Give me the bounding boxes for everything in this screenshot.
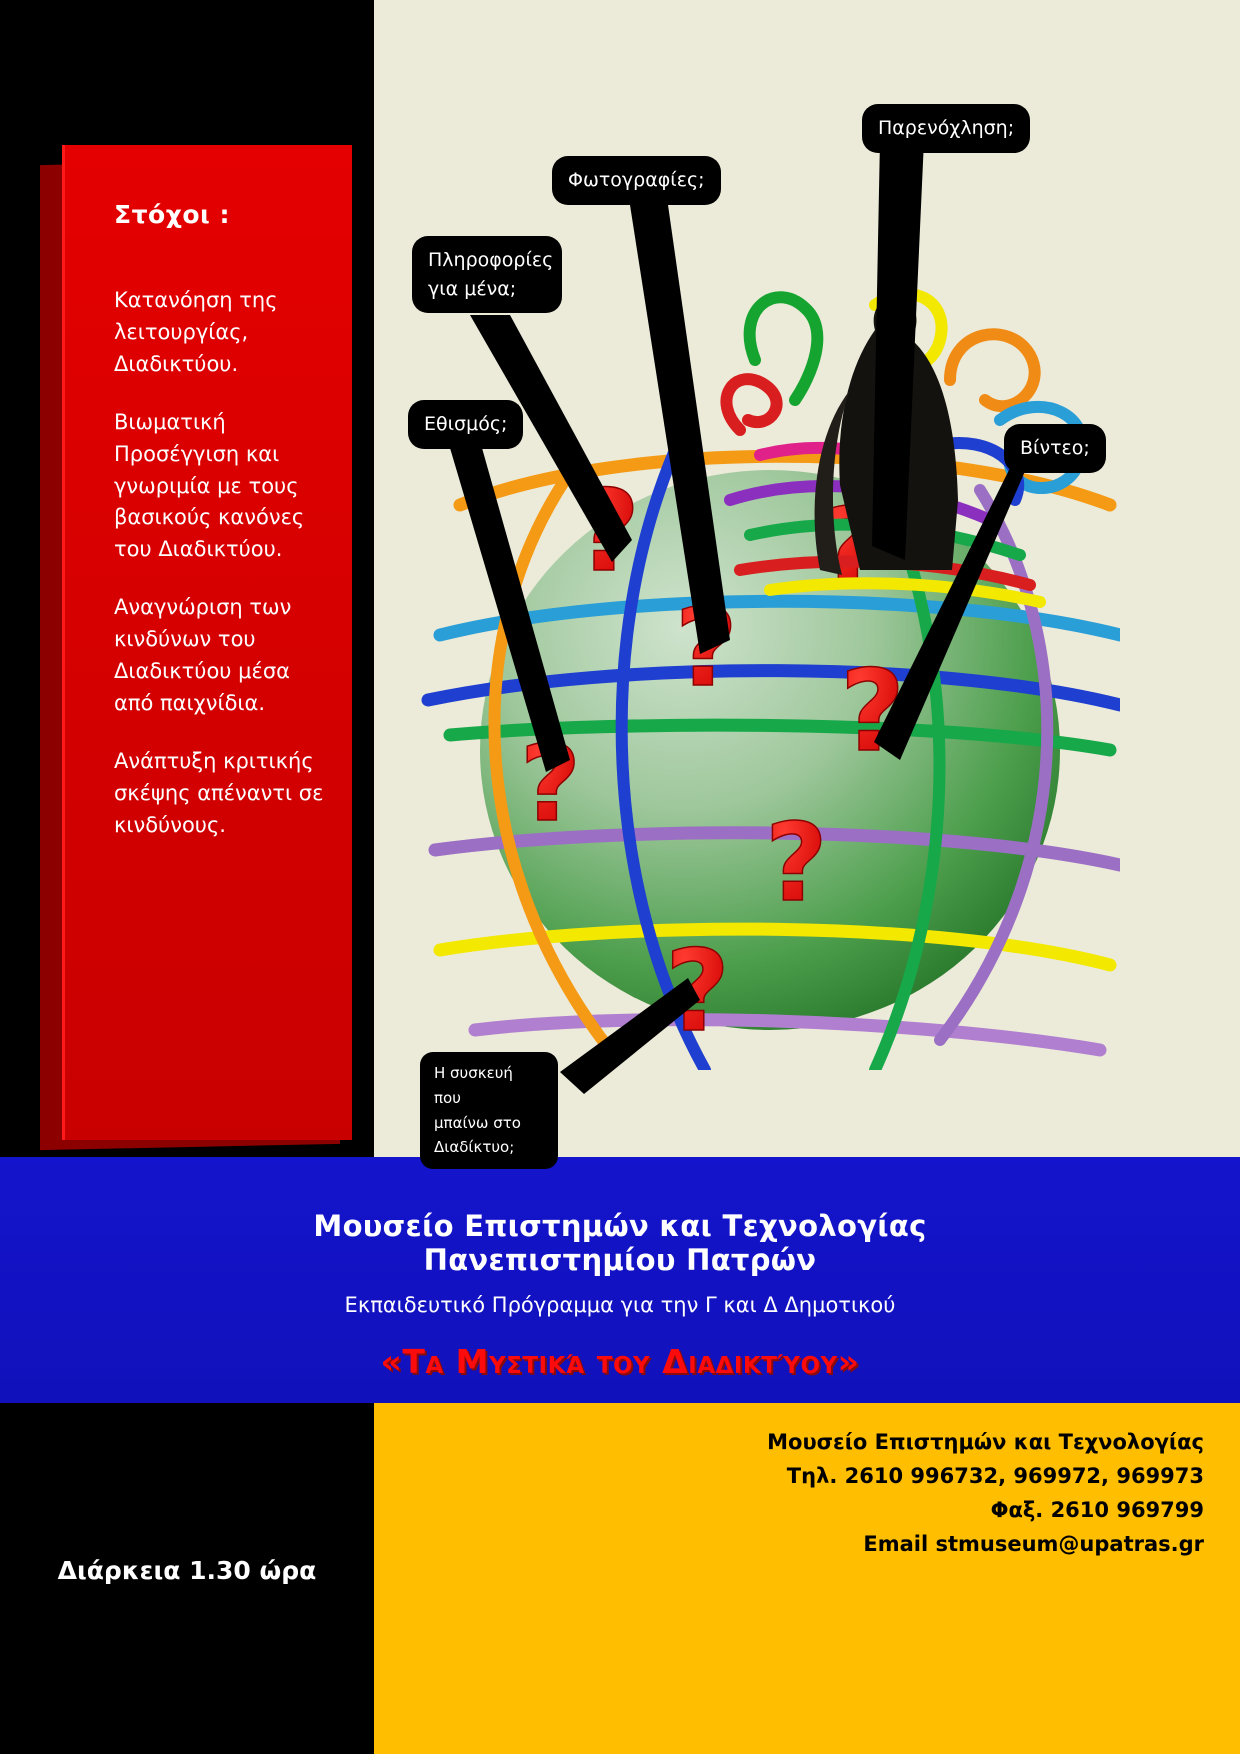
contact-fax: Φαξ. 2610 969799 — [374, 1493, 1204, 1527]
contact-block: Μουσείο Επιστημών και Τεχνολογίας Τηλ. 2… — [374, 1403, 1240, 1754]
bubble-addiction[interactable]: Εθισμός; — [408, 400, 523, 449]
bubble-info-about-me[interactable]: Πληροφορίες για μένα; — [412, 236, 562, 313]
organization-line-2: Πανεπιστημίου Πατρών — [0, 1243, 1240, 1277]
duration-label: Διάρκεια 1.30 ώρα — [0, 1403, 374, 1754]
bubble-photos[interactable]: Φωτογραφίες; — [552, 156, 721, 205]
contact-email: Email stmuseum@upatras.gr — [374, 1527, 1204, 1561]
bubble-video[interactable]: Βίντεο; — [1004, 424, 1106, 473]
program-title: «Τα Μυστικά του Διαδικτύου» — [0, 1317, 1240, 1381]
poster-root: Στόχοι : Κατανόηση της λειτουργίας, Διαδ… — [0, 0, 1240, 1754]
bubble-device[interactable]: Η συσκευή που μπαίνω στο Διαδίκτυο; — [420, 1052, 558, 1169]
contact-name: Μουσείο Επιστημών και Τεχνολογίας — [374, 1425, 1204, 1459]
bubble-harassment[interactable]: Παρενόχληση; — [862, 104, 1030, 153]
contact-phone: Τηλ. 2610 996732, 969972, 969973 — [374, 1459, 1204, 1493]
program-audience-line: Εκπαιδευτικό Πρόγραμμα για την Γ και Δ Δ… — [0, 1277, 1240, 1317]
